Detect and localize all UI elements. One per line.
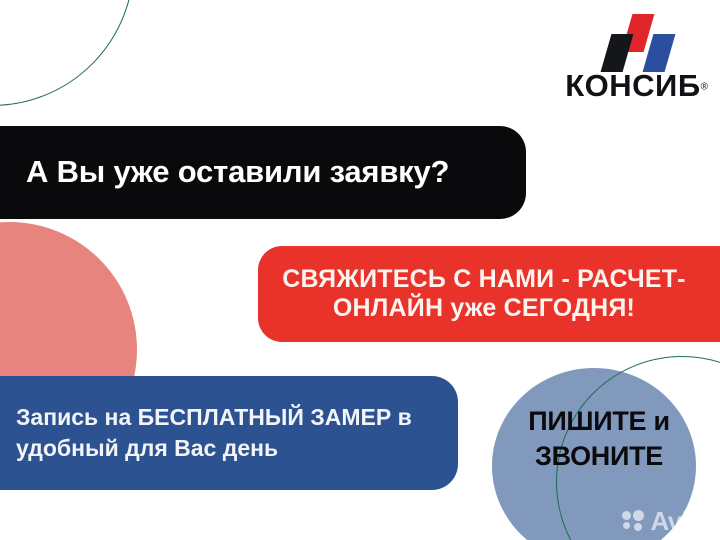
headline-black-box: А Вы уже оставили заявку?: [0, 126, 526, 219]
logo-wordmark: КОНСИБ: [565, 68, 700, 103]
logo-parallelogram-black-icon: [601, 34, 634, 72]
green-ring-decoration-top: [0, 0, 134, 106]
registered-trademark-icon: ®: [701, 82, 708, 93]
offer-blue-box: Запись на БЕСПЛАТНЫЙ ЗАМЕР в удобный для…: [0, 376, 458, 490]
offer-blue-text: Запись на БЕСПЛАТНЫЙ ЗАМЕР в удобный для…: [16, 402, 440, 464]
offer-red-text: СВЯЖИТЕСЬ С НАМИ - РАСЧЕТ-ОНЛАЙН уже СЕГ…: [280, 265, 688, 324]
promo-banner: КОНСИБ® А Вы уже оставили заявку? СВЯЖИТ…: [0, 0, 720, 540]
cta-text-line2: ЗВОНИТЕ: [492, 439, 706, 474]
brand-logo: КОНСИБ®: [566, 14, 708, 108]
cta-text-line1: ПИШИТЕ и: [528, 406, 670, 436]
offer-red-box: СВЯЖИТЕСЬ С НАМИ - РАСЧЕТ-ОНЛАЙН уже СЕГ…: [258, 246, 720, 342]
avito-dots-icon: [622, 510, 648, 532]
logo-wordmark-wrapper: КОНСИБ®: [565, 70, 708, 101]
cta-text-block: ПИШИТЕ и ЗВОНИТЕ: [492, 404, 706, 473]
avito-wordmark: Avito: [650, 508, 712, 534]
logo-parallelogram-blue-icon: [643, 34, 676, 72]
logo-mark-icon: [600, 14, 678, 70]
avito-watermark: Avito: [622, 508, 712, 534]
headline-black-text: А Вы уже оставили заявку?: [26, 155, 449, 189]
